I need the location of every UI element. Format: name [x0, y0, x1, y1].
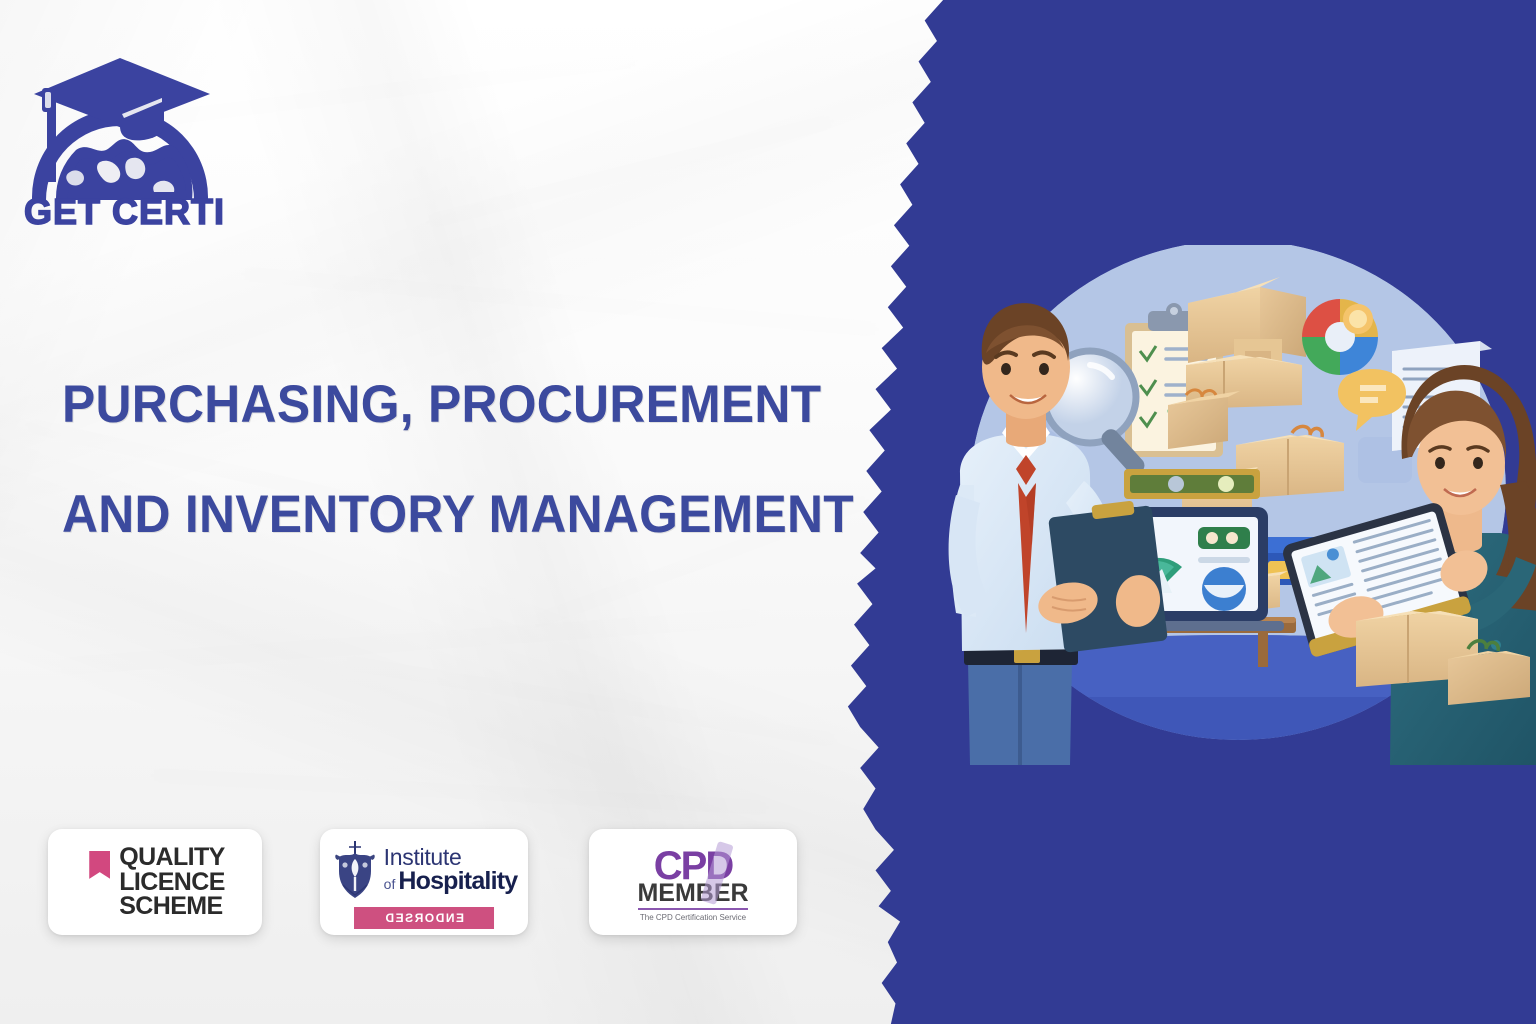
ioh-line-2: Hospitality — [398, 869, 517, 894]
qls-line-1: QUALITY — [119, 845, 225, 870]
badge-quality-licence-scheme[interactable]: QUALITY LICENCE SCHEME — [48, 829, 262, 935]
badge-institute-of-hospitality[interactable]: Institute of Hospitality ENDORSED — [320, 829, 528, 935]
hero-title: PURCHASING, PROCUREMENT AND INVENTORY MA… — [62, 378, 862, 541]
ioh-endorsed-banner: ENDORSED — [354, 907, 494, 929]
poster-canvas: GET CERTIFY PURCHASING, PROCUREMENT AND … — [0, 0, 1536, 1024]
qls-line-2: LICENCE — [119, 870, 225, 895]
title-line-2: AND INVENTORY MANAGEMENT — [62, 488, 814, 541]
gold-level-bar — [1124, 469, 1260, 499]
donut-chart — [1302, 299, 1378, 375]
cpd-divider — [638, 908, 748, 910]
qls-line-3: SCHEME — [119, 894, 225, 919]
title-line-1: PURCHASING, PROCUREMENT — [62, 378, 814, 431]
cpd-subtext: The CPD Certification Service — [640, 913, 746, 923]
cpd-line-2: MEMBER — [637, 881, 748, 906]
graduation-cap-globe-icon — [32, 58, 210, 200]
heraldic-crest-icon — [331, 839, 379, 901]
logo-wordmark: GET CERTIFY — [24, 191, 224, 227]
accreditation-badges: QUALITY LICENCE SCHEME — [48, 829, 797, 935]
ioh-line-1: Institute — [384, 846, 518, 869]
brand-logo[interactable]: GET CERTIFY — [14, 32, 224, 227]
badge-cpd-member[interactable]: CPD MEMBER The CPD Certification Service — [589, 829, 797, 935]
bookmark-ribbon-icon — [89, 851, 110, 879]
procurement-inventory-illustration — [940, 245, 1536, 765]
ioh-connector: of — [384, 877, 396, 891]
